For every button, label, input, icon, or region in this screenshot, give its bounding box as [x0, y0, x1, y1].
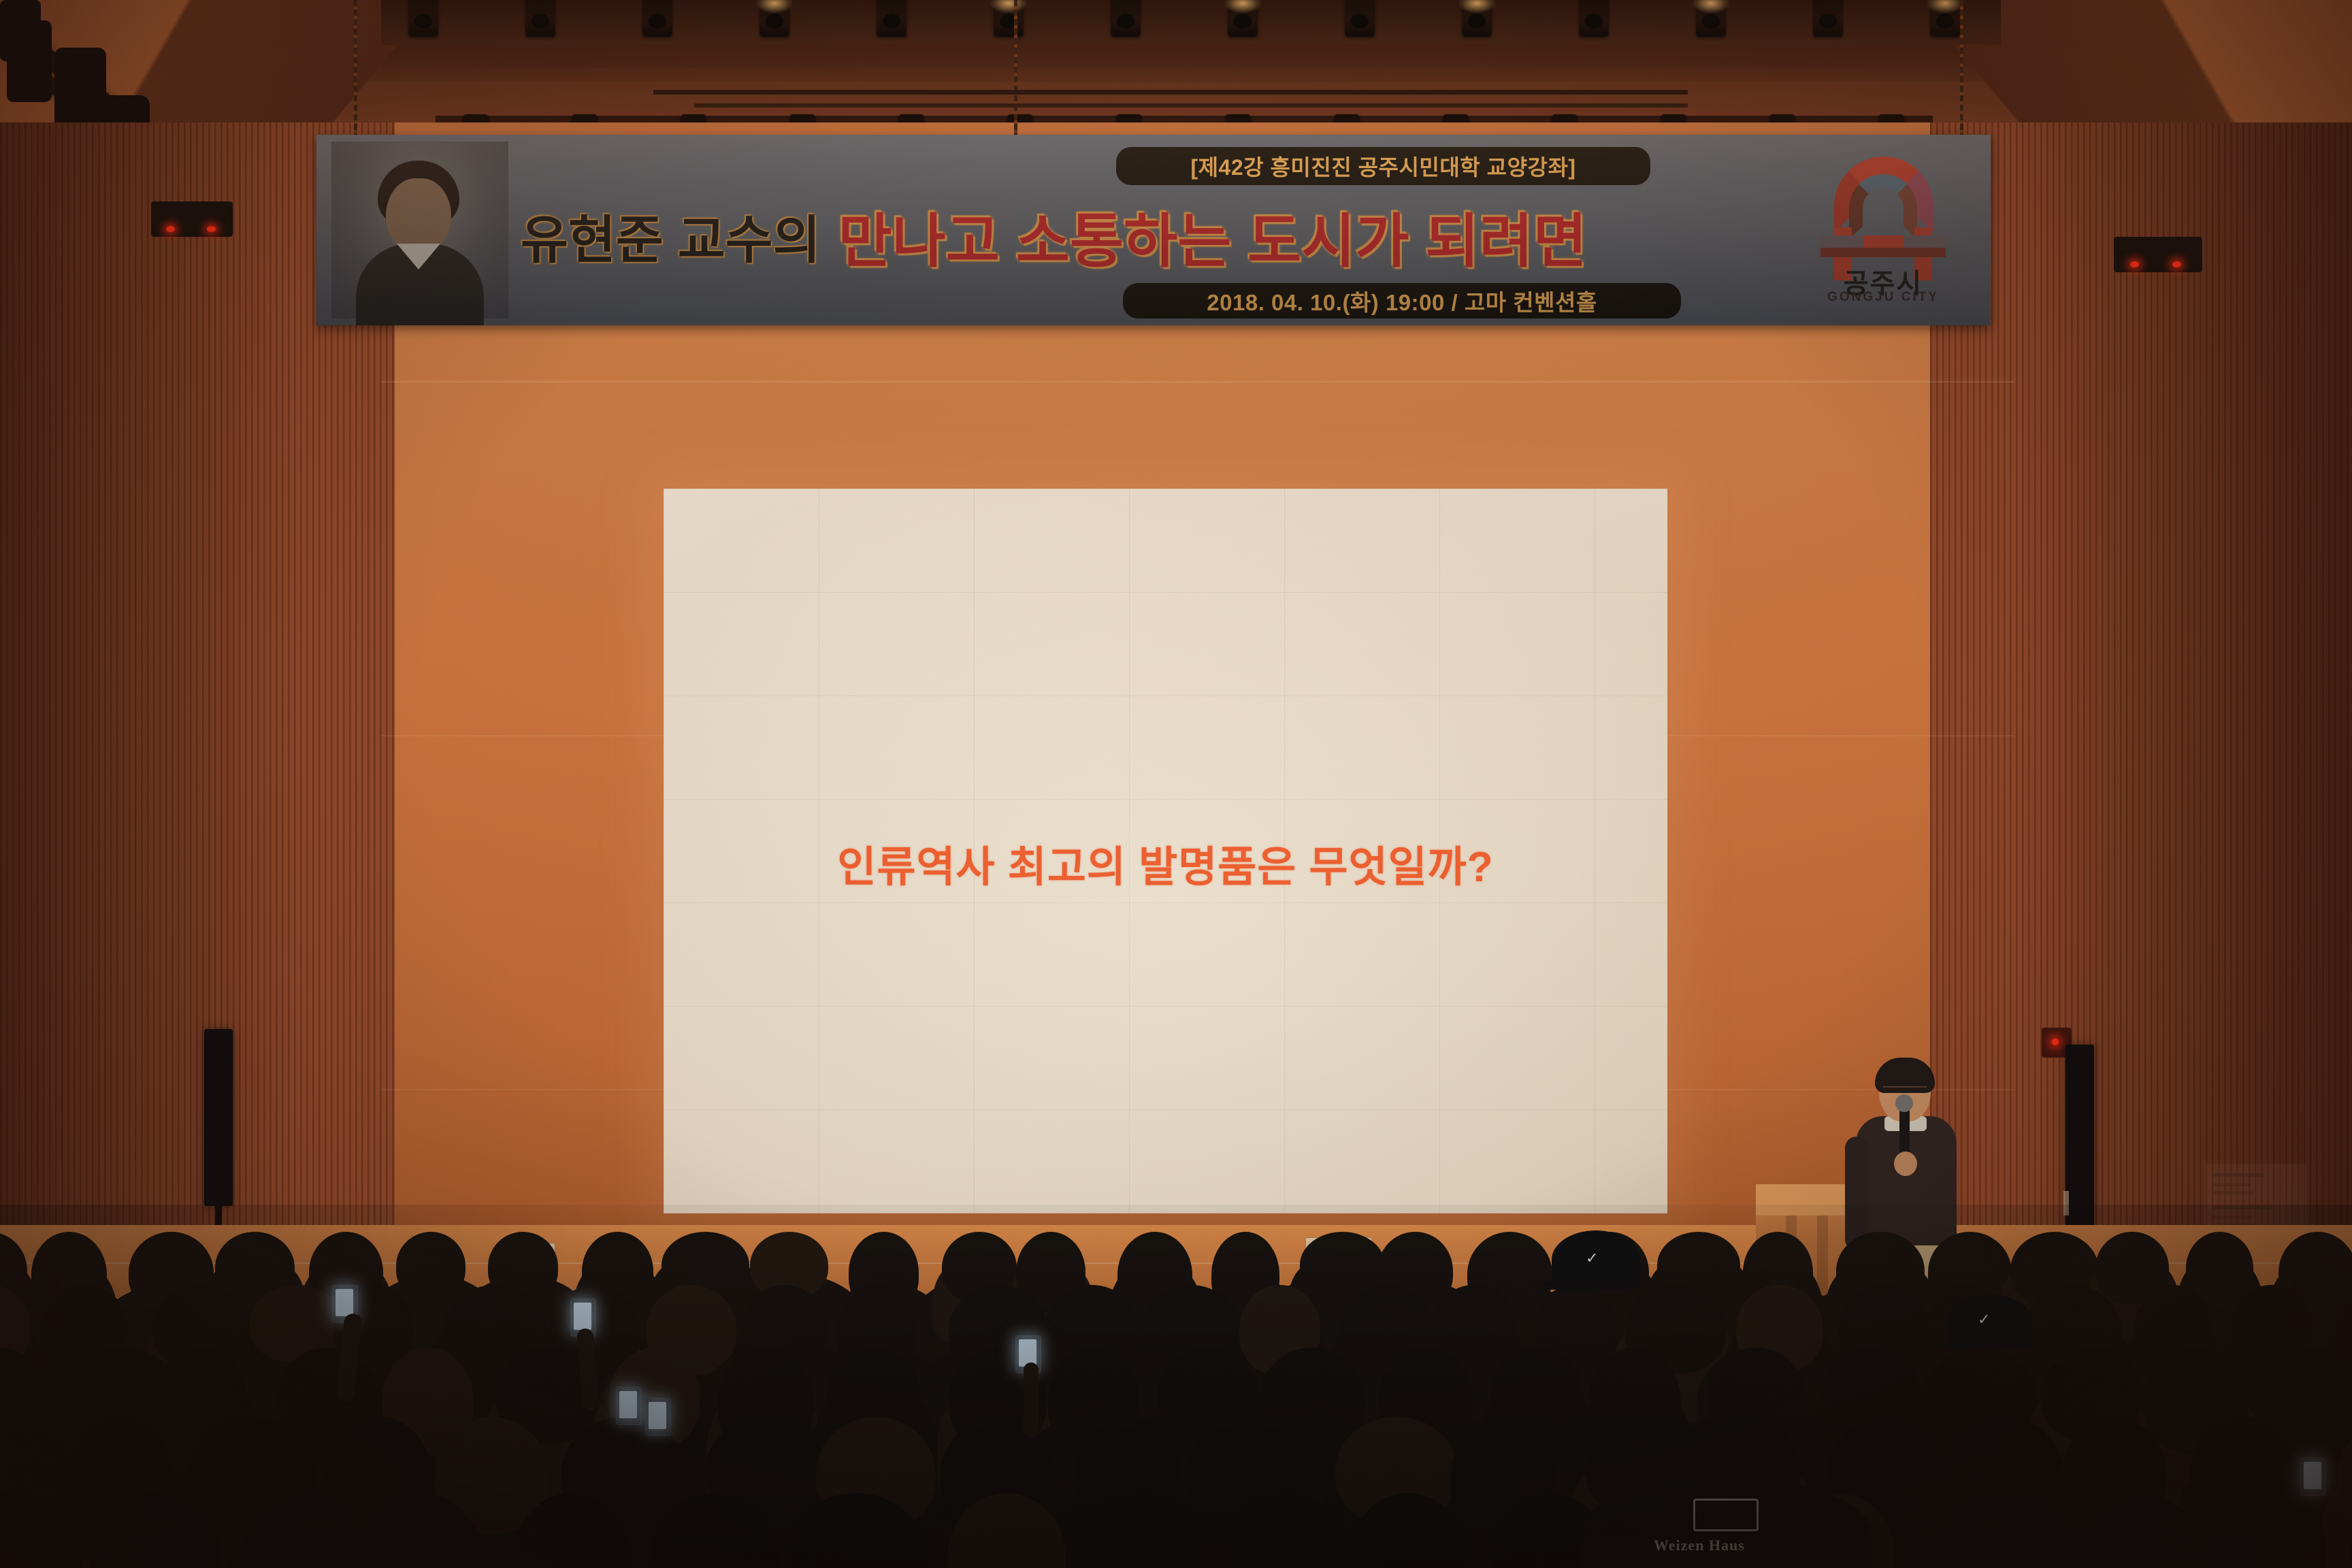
equipment-box-right: [2114, 237, 2202, 272]
cap-brim: [1941, 1341, 2016, 1350]
status-led: [2172, 261, 2181, 267]
gongju-city-logo: 공주시 GONGJU CITY: [1808, 154, 1958, 304]
banner-headline: 유현준 교수의 만나고 소통하는 도시가 되려면: [521, 195, 1895, 276]
logo-english-text: GONGJU CITY: [1808, 290, 1958, 305]
audience-phone: [616, 1387, 642, 1425]
banner-chain-mid: [1014, 0, 1017, 136]
jacket-print-text: Weizen Haus: [1654, 1537, 1745, 1554]
equipment-box-left: [151, 201, 233, 237]
sign-line: [2213, 1191, 2254, 1194]
banner-chain-left: [354, 0, 357, 136]
ceiling-spotlight: [877, 0, 906, 37]
ceiling-spotlight: [1813, 0, 1843, 37]
phone-screen: [574, 1303, 591, 1330]
speaker-tower-left: [204, 1029, 233, 1206]
phone-screen: [2304, 1462, 2321, 1489]
banner-headline-main: 만나고 소통하는 도시가 되려면: [838, 193, 1587, 278]
audience-phone: [2300, 1458, 2326, 1496]
cap-logo-icon: ✓: [1586, 1249, 1598, 1267]
banner-speaker-portrait: [331, 142, 508, 318]
presenter-right-hand: [1894, 1151, 1917, 1176]
arch-inner-icon: [1849, 174, 1917, 240]
arch-base-lower: [1820, 248, 1946, 257]
audience-head: [396, 1232, 465, 1301]
ceiling-spotlight: [642, 0, 672, 37]
banner-headline-prefix: 유현준 교수의: [521, 198, 821, 273]
phone-screen: [336, 1289, 353, 1316]
speaker-tower-right: [2065, 1045, 2094, 1228]
sign-line: [2213, 1173, 2264, 1177]
status-led: [207, 226, 216, 232]
sign-line: [2213, 1183, 2251, 1186]
ceiling-spotlight: [408, 0, 438, 37]
audience-phone: [645, 1398, 671, 1436]
banner-chain-right: [1960, 0, 1963, 136]
projection-screen: 인류역사 최고의 발명품은 무엇일까?: [664, 489, 1667, 1213]
ceiling-pipe-secondary: [694, 103, 1688, 108]
cap-logo-icon: ✓: [1978, 1311, 1990, 1328]
slide-headline-text: 인류역사 최고의 발명품은 무엇일까?: [664, 832, 1667, 894]
portrait-face: [386, 178, 451, 253]
microphone-head-icon: [1895, 1094, 1913, 1112]
status-led: [2130, 261, 2139, 267]
ceiling-spotlight: [1345, 0, 1375, 37]
cap-brim: [1543, 1281, 1624, 1290]
audience-raised-arm: [1024, 1362, 1039, 1437]
stage-light-fixture-5: [0, 0, 41, 61]
audience-crowd: ✓ ✓ Weizen Haus: [0, 1205, 2352, 1568]
ceiling-spotlight: [525, 0, 555, 37]
banner-date-tag: 2018. 04. 10.(화) 19:00 / 고마 컨벤션홀: [1123, 283, 1681, 318]
ceiling-spotlight: [1579, 0, 1609, 37]
status-led: [166, 226, 175, 232]
spotlight-rail-upper: [381, 0, 2001, 45]
phone-screen: [649, 1402, 666, 1429]
ceiling-pipe: [653, 90, 1688, 95]
status-led: [2052, 1039, 2059, 1045]
banner-kicker-tag: [제42강 흥미진진 공주시민대학 교양강좌]: [1116, 147, 1650, 185]
wall-seam: [381, 381, 2014, 382]
phone-screen: [619, 1391, 637, 1418]
arch-base: [1820, 235, 1946, 248]
lecture-hall-photo: [제42강 흥미진진 공주시민대학 교양강좌] 유현준 교수의 만나고 소통하는…: [0, 0, 2352, 1568]
event-banner: [제42강 흥미진진 공주시민대학 교양강좌] 유현준 교수의 만나고 소통하는…: [316, 135, 1991, 325]
ceiling-spotlight: [1111, 0, 1141, 37]
jacket-print-badge: [1693, 1499, 1759, 1531]
